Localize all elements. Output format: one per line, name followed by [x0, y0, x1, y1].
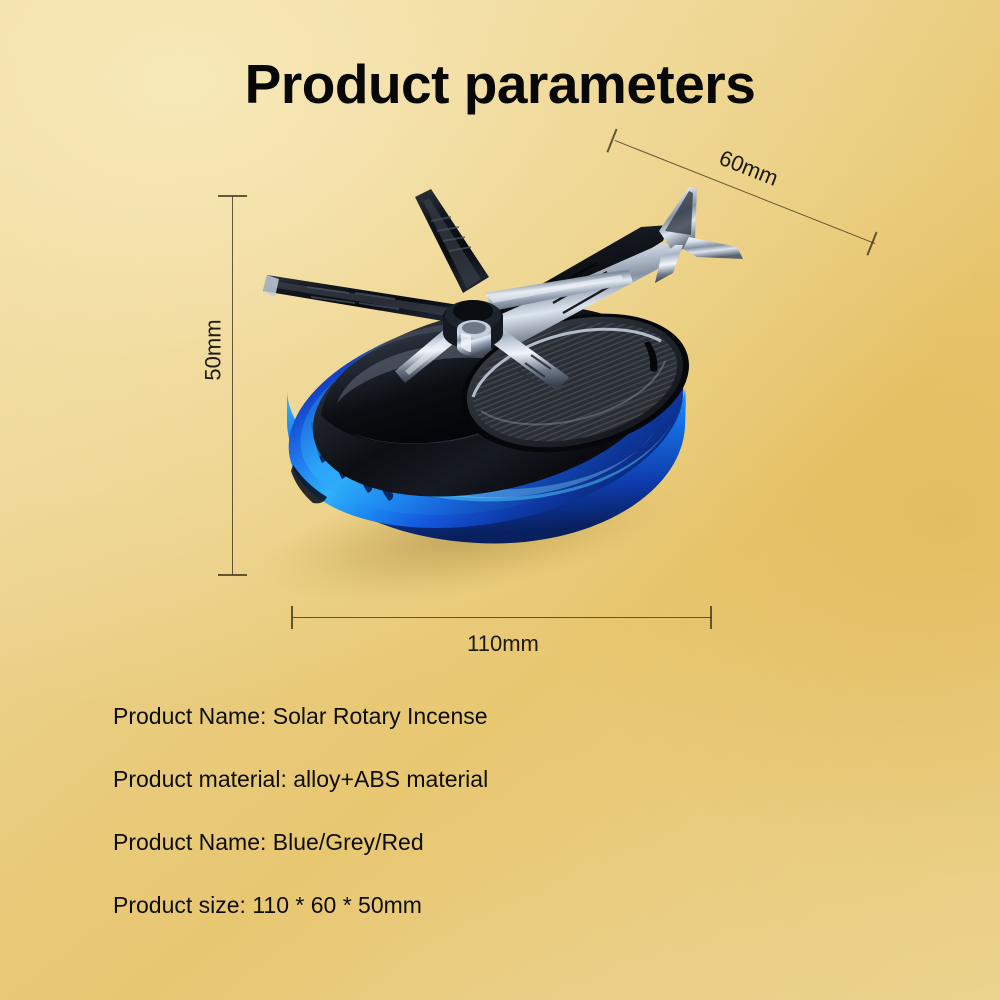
width-dimension-cap-left: [291, 606, 293, 629]
width-dimension-cap-right: [710, 606, 712, 629]
spec-product-material: Product material: alloy+ABS material: [113, 768, 813, 791]
height-dimension-cap-bottom: [218, 574, 247, 576]
product-image: [245, 165, 745, 585]
height-dimension-label: 50mm: [201, 319, 227, 380]
width-dimension-label-text: 110mm: [467, 631, 539, 656]
product-parameters-page: Product parameters 50mm 110mm 60mm: [0, 0, 1000, 1000]
spec-product-size: Product size: 110 * 60 * 50mm: [113, 894, 813, 917]
page-title: Product parameters: [0, 52, 1000, 116]
rotor-blade-upper-left: [415, 189, 489, 293]
tail-horizontal-fin-right: [683, 237, 743, 259]
height-dimension-line: [232, 196, 233, 575]
width-dimension-label: 110mm: [0, 631, 1000, 657]
width-dimension-line: [292, 617, 712, 618]
depth-dimension-cap-right: [866, 232, 877, 256]
spec-product-name: Product Name: Solar Rotary Incense: [113, 705, 813, 728]
specification-list: Product Name: Solar Rotary Incense Produ…: [113, 705, 813, 917]
rotor-blade-left: [263, 275, 459, 323]
height-dimension-cap-top: [218, 195, 247, 197]
spec-product-color: Product Name: Blue/Grey/Red: [113, 831, 813, 854]
